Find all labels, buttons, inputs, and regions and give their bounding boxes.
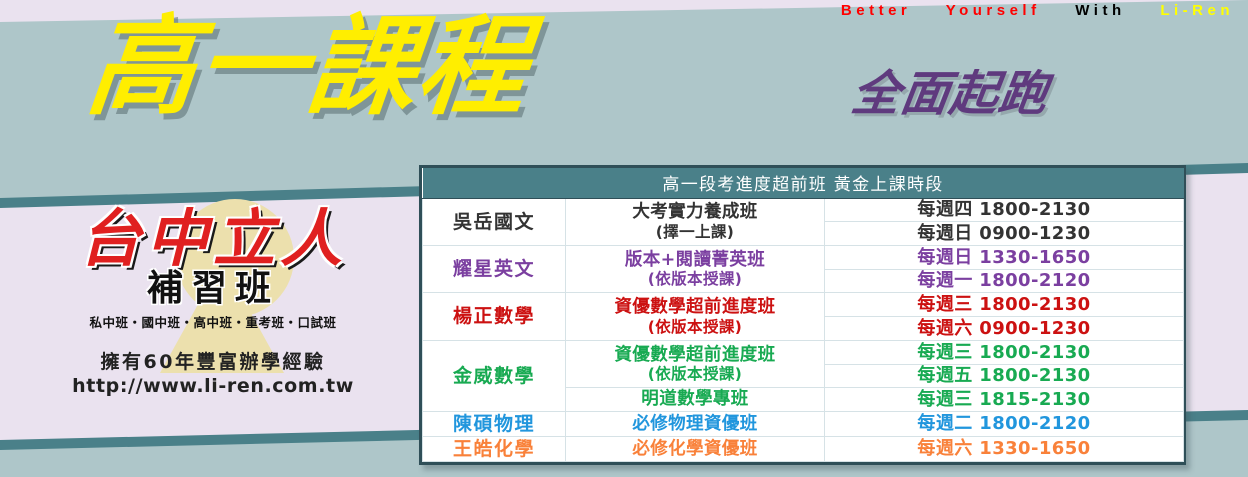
schedule-body: 吳岳國文 大考實力養成班 (擇一上課) 每週四 1800-2130 每週日 09… xyxy=(423,198,1184,462)
tagline-word-2: Yourself xyxy=(946,2,1041,19)
table-row[interactable]: 楊正數學 資優數學超前進度班 (依版本授課) 每週三 1800-2130 xyxy=(423,293,1184,317)
table-row[interactable]: 耀星英文 版本+閱讀菁英班 (依版本授課) 每週日 1330-1650 xyxy=(423,245,1184,269)
table-header-row: 高一段考進度超前班 黃金上課時段 xyxy=(423,168,1184,198)
table-row[interactable]: 王皓化學 必修化學資優班 每週六 1330-1650 xyxy=(423,436,1184,461)
time-cell: 每週三 1815-2130 xyxy=(825,388,1184,412)
course-cell: 明道數學專班 xyxy=(566,388,825,412)
course-cell: 資優數學超前進度班 (依版本授課) xyxy=(566,340,825,387)
logo-experience: 擁有60年豐富辦學經驗 xyxy=(48,347,378,374)
teacher-cell: 吳岳國文 xyxy=(423,198,566,245)
course-note: (依版本授課) xyxy=(566,270,824,288)
tagline-word-1: Better xyxy=(841,2,911,19)
course-name: 版本+閱讀菁英班 xyxy=(625,250,765,270)
page-title: 高一課程 xyxy=(82,14,533,122)
table-row[interactable]: 金威數學 資優數學超前進度班 (依版本授課) 每週三 1800-2130 xyxy=(423,340,1184,364)
course-name: 資優數學超前進度班 xyxy=(614,345,775,365)
teacher-cell: 耀星英文 xyxy=(423,245,566,292)
time-cell: 每週一 1800-2120 xyxy=(825,269,1184,293)
time-cell: 每週二 1800-2120 xyxy=(825,411,1184,436)
course-note: (依版本授課) xyxy=(566,318,824,336)
logo-brand-name: 台中立人 xyxy=(48,205,378,273)
page-subtitle: 全面起跑 xyxy=(849,70,1052,118)
logo: 台中立人 補習班 私中班・國中班・高中班・重考班・口試班 擁有60年豐富辦學經驗… xyxy=(48,205,378,397)
schedule-title: 高一段考進度超前班 黃金上課時段 xyxy=(423,168,1184,198)
table-row[interactable]: 吳岳國文 大考實力養成班 (擇一上課) 每週四 1800-2130 xyxy=(423,198,1184,222)
schedule-panel: 高一段考進度超前班 黃金上課時段 吳岳國文 大考實力養成班 (擇一上課) 每週四… xyxy=(419,165,1186,465)
teacher-cell: 金威數學 xyxy=(423,340,566,411)
course-note: (依版本授課) xyxy=(566,365,824,383)
course-note: (擇一上課) xyxy=(566,223,824,241)
logo-subbrand: 補習班 xyxy=(48,269,378,309)
time-cell: 每週五 1800-2130 xyxy=(825,364,1184,388)
tagline-word-4: Li-Ren xyxy=(1160,2,1234,19)
course-cell: 大考實力養成班 (擇一上課) xyxy=(566,198,825,245)
course-cell: 必修化學資優班 xyxy=(566,436,825,461)
course-name: 大考實力養成班 xyxy=(632,202,757,222)
table-row[interactable]: 陳碩物理 必修物理資優班 每週二 1800-2120 xyxy=(423,411,1184,436)
time-cell: 每週日 1330-1650 xyxy=(825,245,1184,269)
time-cell: 每週四 1800-2130 xyxy=(825,198,1184,222)
teacher-cell: 楊正數學 xyxy=(423,293,566,340)
teacher-cell: 王皓化學 xyxy=(423,436,566,461)
course-cell: 資優數學超前進度班 (依版本授課) xyxy=(566,293,825,340)
time-cell: 每週六 1330-1650 xyxy=(825,436,1184,461)
time-cell: 每週三 1800-2130 xyxy=(825,340,1184,364)
schedule-table: 高一段考進度超前班 黃金上課時段 吳岳國文 大考實力養成班 (擇一上課) 每週四… xyxy=(422,168,1184,462)
logo-website-url: http://www.li-ren.com.tw xyxy=(48,375,378,397)
time-cell: 每週三 1800-2130 xyxy=(825,293,1184,317)
teacher-cell: 陳碩物理 xyxy=(423,411,566,436)
course-name: 資優數學超前進度班 xyxy=(614,297,775,317)
logo-class-list: 私中班・國中班・高中班・重考班・口試班 xyxy=(48,312,378,331)
time-cell: 每週日 0900-1230 xyxy=(825,222,1184,246)
course-cell: 必修物理資優班 xyxy=(566,411,825,436)
course-cell: 版本+閱讀菁英班 (依版本授課) xyxy=(566,245,825,292)
tagline-word-3: With xyxy=(1075,2,1125,19)
time-cell: 每週六 0900-1230 xyxy=(825,317,1184,341)
